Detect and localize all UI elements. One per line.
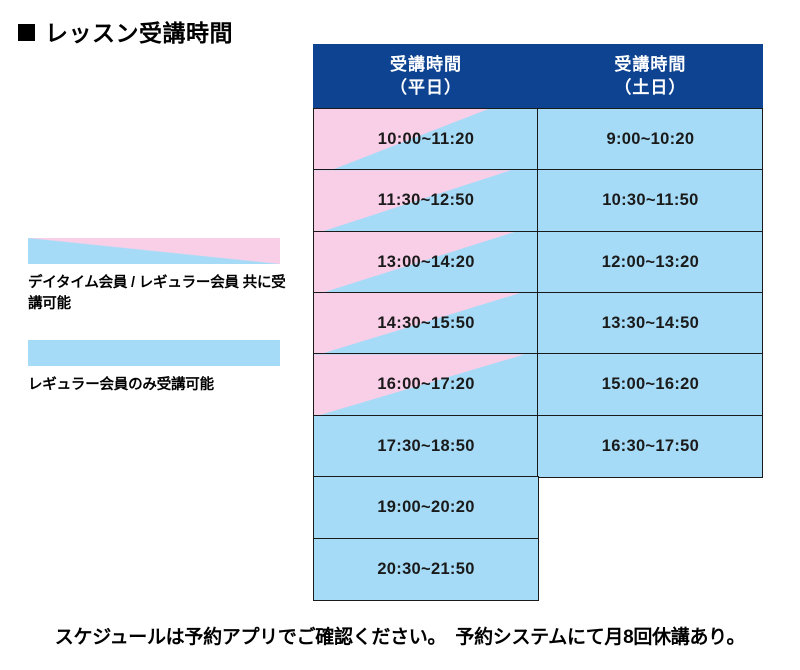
weekend-slot-1: 9:00~10:20 xyxy=(537,108,763,171)
weekday-slot-6: 17:30~18:50 xyxy=(313,415,539,478)
table-row: 10:00~11:20 9:00~10:20 xyxy=(313,109,765,170)
table-row: 17:30~18:50 16:30~17:50 xyxy=(313,416,765,477)
weekend-slot-3: 12:00~13:20 xyxy=(537,231,763,294)
table-row: 11:30~12:50 10:30~11:50 xyxy=(313,171,765,232)
page-title-text: レッスン受講時間 xyxy=(45,14,233,48)
weekend-slot-4: 13:30~14:50 xyxy=(537,292,763,355)
legend-label-regular-only: レギュラー会員のみ受講可能 xyxy=(28,375,290,396)
schedule-table: 受講時間 （平日） 受講時間 （土日） 10:00~11:20 9:00~10:… xyxy=(313,46,765,601)
legend-item-daytime-regular: デイタイム会員 / レギュラー会員 共に受講可能 xyxy=(28,238,290,314)
legend-item-regular-only: レギュラー会員のみ受講可能 xyxy=(28,340,290,396)
legend-swatch-pink-blue-diagonal xyxy=(28,238,280,264)
footer-note: スケジュールは予約アプリでご確認ください。 予約システムにて月8回休講あり。 xyxy=(0,622,800,649)
table-row: 20:30~21:50 xyxy=(313,539,765,600)
column-header-weekend: 受講時間 （土日） xyxy=(537,44,763,109)
weekend-slot-2: 10:30~11:50 xyxy=(537,169,763,232)
weekend-slot-5: 15:00~16:20 xyxy=(537,353,763,416)
lesson-schedule-page: レッスン受講時間 デイタイム会員 / レギュラー会員 共に受講可能 レギュラー会… xyxy=(0,0,800,670)
weekday-slot-4: 14:30~15:50 xyxy=(313,292,539,355)
table-row: 14:30~15:50 13:30~14:50 xyxy=(313,294,765,355)
weekday-slot-3: 13:00~14:20 xyxy=(313,231,539,294)
weekend-slot-6: 16:30~17:50 xyxy=(537,415,763,478)
table-row: 16:00~17:20 15:00~16:20 xyxy=(313,355,765,416)
legend-swatch-light-blue xyxy=(28,340,280,366)
table-header-row: 受講時間 （平日） 受講時間 （土日） xyxy=(313,46,765,109)
weekend-slot-7-empty xyxy=(539,476,765,539)
weekday-slot-2: 11:30~12:50 xyxy=(313,169,539,232)
weekday-slot-7: 19:00~20:20 xyxy=(313,476,539,539)
table-row: 19:00~20:20 xyxy=(313,478,765,539)
page-title: レッスン受講時間 xyxy=(18,14,233,48)
weekend-slot-8-empty xyxy=(539,538,765,601)
weekday-slot-5: 16:00~17:20 xyxy=(313,353,539,416)
weekday-slot-1: 10:00~11:20 xyxy=(313,108,539,171)
weekday-slot-8: 20:30~21:50 xyxy=(313,538,539,601)
black-square-icon xyxy=(18,24,35,41)
legend: デイタイム会員 / レギュラー会員 共に受講可能 レギュラー会員のみ受講可能 xyxy=(28,238,290,422)
table-row: 13:00~14:20 12:00~13:20 xyxy=(313,232,765,293)
legend-label-daytime-regular: デイタイム会員 / レギュラー会員 共に受講可能 xyxy=(28,273,290,314)
column-header-weekday: 受講時間 （平日） xyxy=(313,44,539,109)
